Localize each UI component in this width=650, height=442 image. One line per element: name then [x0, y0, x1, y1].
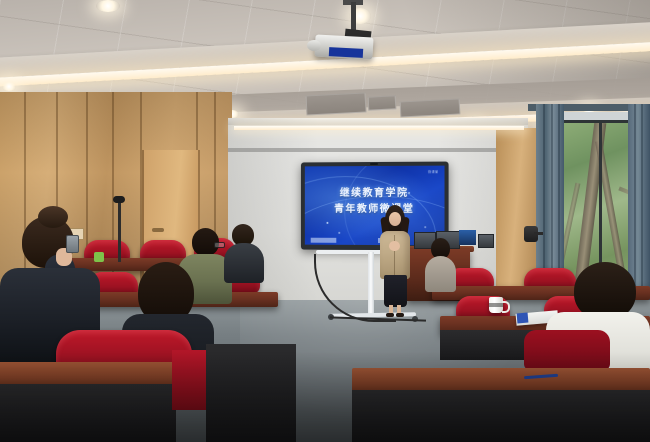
presenter-face: [389, 212, 401, 226]
chair-right-front[interactable]: [524, 330, 610, 370]
desk-foreground-right-front: [206, 344, 296, 442]
notebook-spine: [517, 313, 529, 324]
speaker-mount-arm: [534, 232, 543, 235]
person-center-back-dark: [224, 224, 264, 280]
presenter-coat: [380, 231, 410, 279]
door-handle[interactable]: [152, 228, 164, 232]
green-cup[interactable]: [94, 252, 104, 262]
person-right-rear-operator: [424, 238, 456, 290]
display-camera-icon: [370, 163, 378, 165]
operator-body: [425, 256, 456, 292]
desk-foreground-far-right-front: [352, 390, 650, 442]
ceiling-downlight-1: [96, 0, 120, 12]
classroom-photo: 继续教育学院 青年教师微课堂 微课堂: [0, 0, 650, 442]
screen-title-line-2: 青年教师微课堂: [305, 200, 445, 215]
presenter-skirt: [384, 275, 407, 307]
mug-band: [489, 303, 503, 307]
ceiling-vent-2: [368, 95, 397, 110]
screen-corner-label: 微课堂: [428, 170, 438, 174]
console-monitor[interactable]: [459, 230, 476, 245]
wall-light-bar: [234, 126, 524, 130]
microphone-head: [113, 196, 125, 203]
smartphone[interactable]: [66, 235, 79, 253]
microphone-stand: [118, 200, 121, 262]
ceiling-projector: [315, 28, 379, 60]
presenter-shoe-right: [396, 313, 404, 317]
desk-foreground-left-front: [0, 384, 176, 442]
console-equipment-right: [478, 234, 494, 248]
photographer-hair-bun: [38, 206, 68, 228]
ceiling-downlight-2: [2, 82, 16, 91]
screen-title-line-1: 继续教育学院: [305, 184, 445, 199]
presenter-shoe-left: [386, 313, 394, 317]
screen-bottom-bar-left: [311, 238, 337, 243]
back-person-body: [224, 243, 264, 283]
presenter-person: [378, 205, 412, 317]
ceiling-vent-1: [306, 92, 367, 115]
presenter-hands: [389, 241, 400, 251]
projector-label: [329, 47, 363, 58]
mug-handle: [502, 301, 510, 313]
ceiling-vent-3: [400, 98, 461, 117]
